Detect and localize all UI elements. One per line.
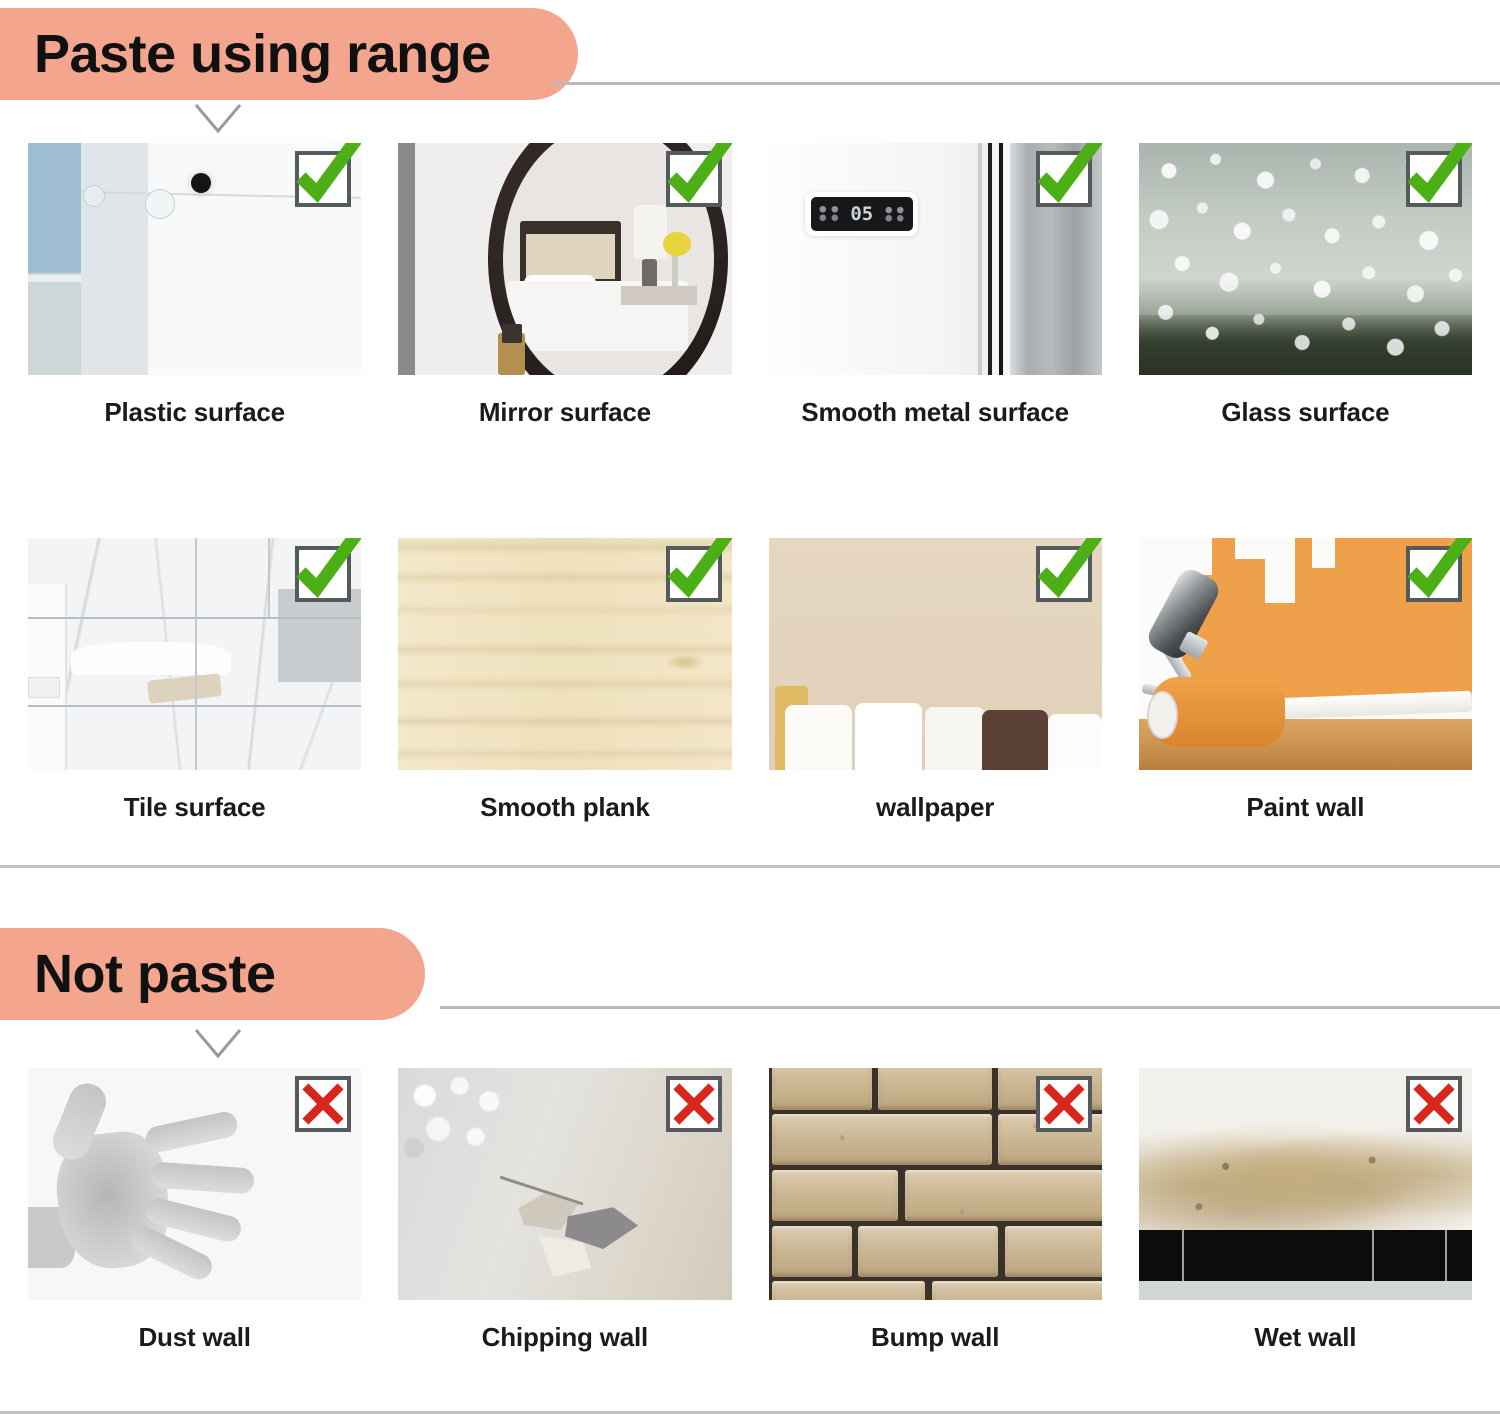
check-mark-icon xyxy=(1406,546,1462,602)
card-label: Chipping wall xyxy=(398,1322,731,1353)
card-label: Bump wall xyxy=(769,1322,1102,1353)
paste-using-range-banner-rule xyxy=(552,82,1500,85)
check-mark-icon xyxy=(1036,546,1092,602)
thumbnail-smooth-metal-surface: 05 xyxy=(769,143,1102,375)
card-label: Paint wall xyxy=(1139,792,1472,823)
thumbnail-mirror-surface xyxy=(398,143,731,375)
card-smooth-metal-surface[interactable]: 05 Smooth metal surface xyxy=(769,143,1102,428)
chevron-down-icon xyxy=(190,101,246,135)
paste-using-range-banner: Paste using range xyxy=(0,8,578,100)
paste-using-range-banner-label: Paste using range xyxy=(0,27,537,81)
paste-row-2: Tile surface Smooth plank xyxy=(0,538,1500,823)
card-wet-wall[interactable]: Wet wall xyxy=(1139,1068,1472,1353)
thumbnail-wallpaper xyxy=(769,538,1102,770)
card-label: Dust wall xyxy=(28,1322,361,1353)
card-label: Smooth plank xyxy=(398,792,731,823)
thumbnail-bump-wall xyxy=(769,1068,1102,1300)
not-paste-row-1: Dust wall Chipping wall xyxy=(0,1068,1500,1353)
card-glass-surface[interactable]: Glass surface xyxy=(1139,143,1472,428)
paste-using-range-chevron-wrap xyxy=(0,105,1500,143)
card-bump-wall[interactable]: Bump wall xyxy=(769,1068,1102,1353)
check-mark-icon xyxy=(1036,151,1092,207)
not-paste-chevron-wrap xyxy=(0,1032,1500,1068)
card-dust-wall[interactable]: Dust wall xyxy=(28,1068,361,1353)
not-paste-banner: Not paste xyxy=(0,928,425,1020)
card-label: Smooth metal surface xyxy=(769,397,1102,428)
cross-mark-icon xyxy=(295,1076,351,1132)
paste-row-1: Plastic surface xyxy=(0,143,1500,428)
check-mark-icon xyxy=(666,151,722,207)
not-paste-banner-row: Not paste xyxy=(0,920,1500,1032)
card-plastic-surface[interactable]: Plastic surface xyxy=(28,143,361,428)
thumbnail-dust-wall xyxy=(28,1068,361,1300)
card-label: Wet wall xyxy=(1139,1322,1472,1353)
not-paste-banner-rule xyxy=(440,1006,1500,1009)
thumbnail-paint-wall xyxy=(1139,538,1472,770)
thumbnail-smooth-plank xyxy=(398,538,731,770)
cross-mark-icon xyxy=(1036,1076,1092,1132)
fridge-display-value: 05 xyxy=(850,203,873,225)
check-mark-icon xyxy=(666,546,722,602)
cross-mark-icon xyxy=(666,1076,722,1132)
card-chipping-wall[interactable]: Chipping wall xyxy=(398,1068,731,1353)
thumbnail-chipping-wall xyxy=(398,1068,731,1300)
card-wallpaper[interactable]: wallpaper xyxy=(769,538,1102,823)
card-smooth-plank[interactable]: Smooth plank xyxy=(398,538,731,823)
card-label: wallpaper xyxy=(769,792,1102,823)
card-label: Plastic surface xyxy=(28,397,361,428)
card-mirror-surface[interactable]: Mirror surface xyxy=(398,143,731,428)
paste-using-range-banner-row: Paste using range xyxy=(0,0,1500,105)
thumbnail-plastic-surface xyxy=(28,143,361,375)
check-mark-icon xyxy=(1406,151,1462,207)
card-tile-surface[interactable]: Tile surface xyxy=(28,538,361,823)
card-label: Tile surface xyxy=(28,792,361,823)
cross-mark-icon xyxy=(1406,1076,1462,1132)
section-divider-bottom xyxy=(0,1411,1500,1414)
card-paint-wall[interactable]: Paint wall xyxy=(1139,538,1472,823)
thumbnail-tile-surface xyxy=(28,538,361,770)
card-label: Mirror surface xyxy=(398,397,731,428)
thumbnail-wet-wall xyxy=(1139,1068,1472,1300)
chevron-down-icon xyxy=(190,1026,246,1060)
thumbnail-glass-surface xyxy=(1139,143,1472,375)
check-mark-icon xyxy=(295,151,351,207)
check-mark-icon xyxy=(295,546,351,602)
not-paste-banner-label: Not paste xyxy=(0,947,322,1001)
card-label: Glass surface xyxy=(1139,397,1472,428)
section-divider-top xyxy=(0,865,1500,868)
